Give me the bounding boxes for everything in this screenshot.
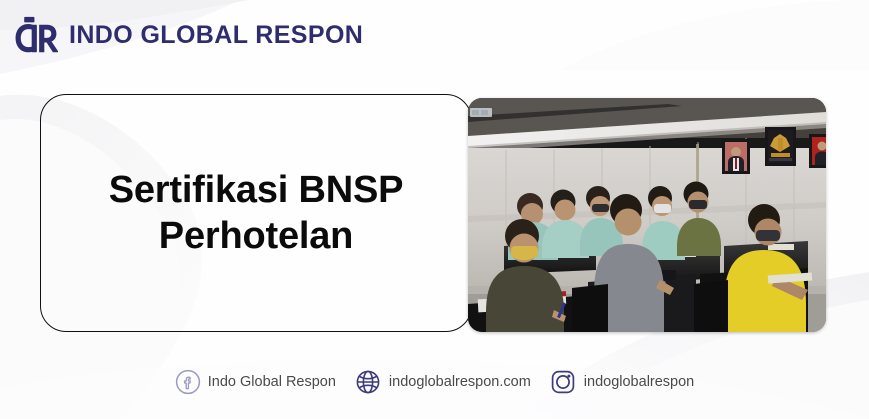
footer-contact-bar: Indo Global Respon indoglobalrespon.com <box>0 363 869 401</box>
page-title: Sertifikasi BNSP Perhotelan <box>83 167 430 260</box>
instagram-icon <box>549 368 577 396</box>
brand-header: INDO GLOBAL RESPON <box>14 12 363 58</box>
facebook-icon <box>175 369 201 395</box>
footer-label-website: indoglobalrespon.com <box>389 375 531 390</box>
promo-banner: INDO GLOBAL RESPON Sertifikasi BNSP Perh… <box>0 0 869 419</box>
brand-name: INDO GLOBAL RESPON <box>69 23 363 48</box>
footer-label-instagram: indoglobalrespon <box>584 375 694 390</box>
footer-label-facebook: Indo Global Respon <box>208 375 336 390</box>
title-card: Sertifikasi BNSP Perhotelan <box>40 94 472 332</box>
globe-website-icon <box>354 368 382 396</box>
igr-monogram-logo-icon <box>14 15 58 55</box>
footer-item-instagram[interactable]: indoglobalrespon <box>549 368 694 396</box>
classroom-photo <box>468 98 826 332</box>
classroom-photo-illustration <box>468 98 826 332</box>
footer-item-website[interactable]: indoglobalrespon.com <box>354 368 531 396</box>
footer-item-facebook[interactable]: Indo Global Respon <box>175 369 336 395</box>
